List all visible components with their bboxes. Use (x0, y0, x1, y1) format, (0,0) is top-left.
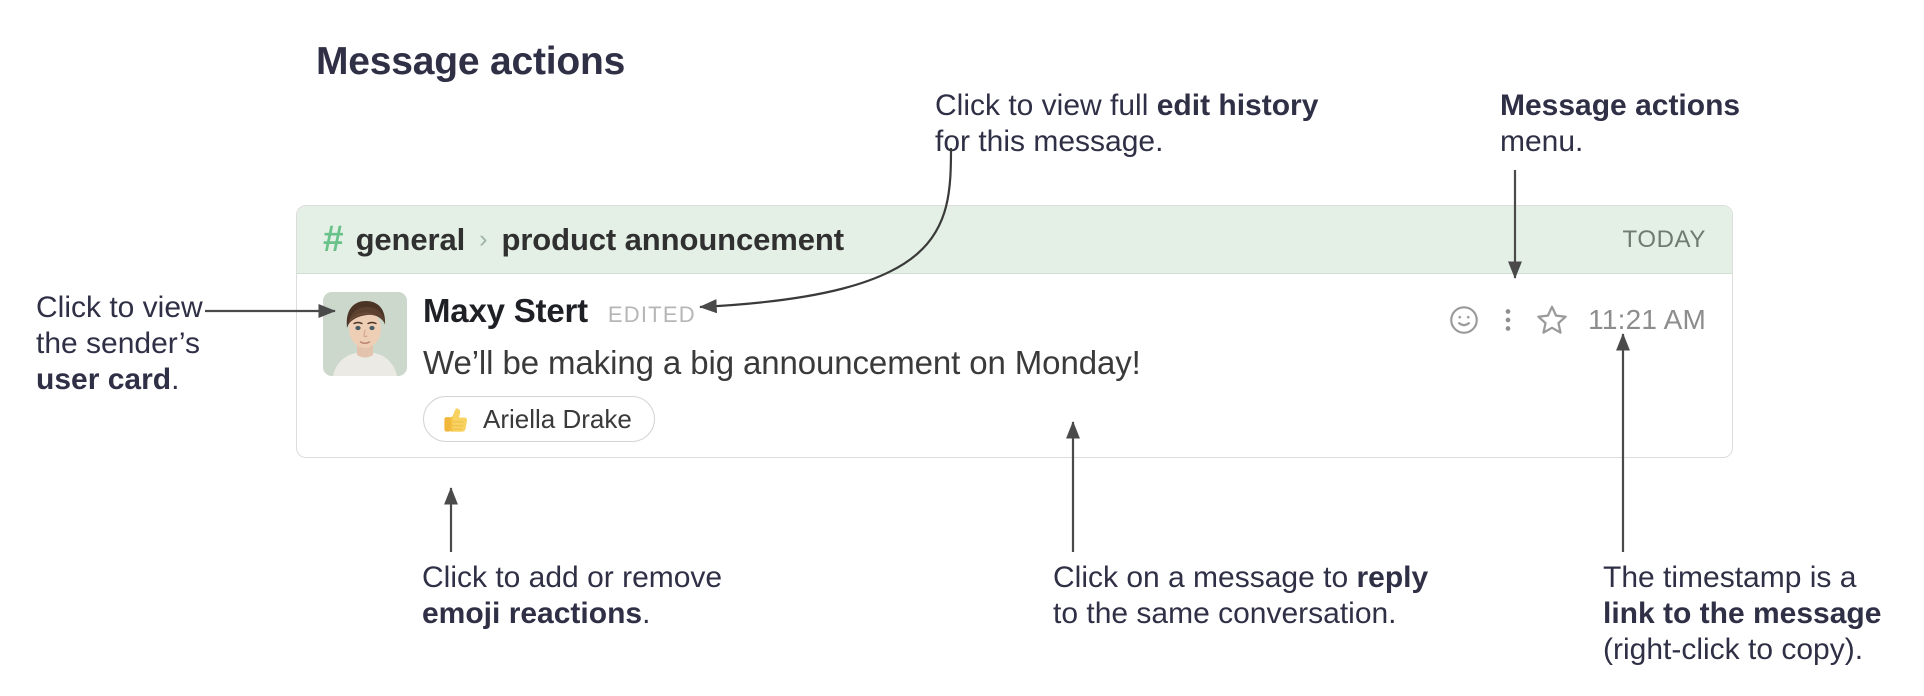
page-title: Message actions (316, 40, 625, 84)
reaction-username: Ariella Drake (483, 404, 632, 435)
annotation-emphasis: reply (1356, 561, 1428, 594)
annotation-emphasis: user card (36, 363, 171, 396)
message-timestamp[interactable]: 11:21 AM (1588, 304, 1706, 336)
message-text[interactable]: We’ll be making a big announcement on Mo… (423, 344, 1706, 382)
annotation-line: to the same conversation. (1053, 596, 1428, 632)
message-card: # general › product announcement TODAY (296, 205, 1733, 458)
annotation-edit-history: Click to view full edit history for this… (935, 88, 1318, 160)
star-icon[interactable] (1530, 298, 1574, 342)
annotation-emphasis: link to the message (1603, 597, 1881, 630)
annotation-emphasis: Message actions (1500, 89, 1740, 122)
annotation-timestamp: The timestamp is a link to the message (… (1603, 560, 1881, 668)
message-actions-group: 11:21 AM (1442, 298, 1706, 342)
annotation-text: . (642, 597, 650, 630)
annotation-line: the sender’s (36, 326, 203, 362)
date-label: TODAY (1623, 226, 1706, 254)
annotation-line: The timestamp is a (1603, 560, 1881, 596)
annotation-text: Click on a message to (1053, 561, 1356, 594)
emoji-reaction-icon[interactable] (1442, 298, 1486, 342)
annotation-text: . (171, 363, 179, 396)
sender-name[interactable]: Maxy Stert (423, 292, 588, 330)
hash-icon: # (323, 220, 344, 257)
reaction-row: Ariella Drake (423, 396, 1706, 442)
avatar[interactable] (323, 292, 407, 376)
annotation-emoji-reactions: Click to add or remove emoji reactions. (422, 560, 722, 632)
stream-name[interactable]: general (356, 222, 466, 258)
annotation-line: Click to add or remove (422, 560, 722, 596)
message-row[interactable]: Maxy Stert EDITED We’ll be making a big … (297, 274, 1732, 442)
annotation-user-card: Click to view the sender’s user card. (36, 290, 203, 398)
edited-badge[interactable]: EDITED (608, 302, 696, 328)
annotation-line: (right-click to copy). (1603, 632, 1881, 668)
annotation-emphasis: emoji reactions (422, 597, 642, 630)
annotation-line: for this message. (935, 124, 1318, 160)
annotation-message-actions: Message actions menu. (1500, 88, 1740, 160)
annotation-line: Click to view (36, 290, 203, 326)
annotation-line: user card. (36, 362, 203, 398)
chevron-right-icon: › (479, 227, 487, 252)
thumbs-up-emoji (440, 404, 471, 435)
card-header: # general › product announcement TODAY (297, 206, 1732, 274)
annotation-text: Click to view full (935, 89, 1157, 122)
annotation-emphasis: edit history (1157, 89, 1319, 122)
annotation-reply: Click on a message to reply to the same … (1053, 560, 1428, 632)
annotation-line: menu. (1500, 124, 1740, 160)
reaction-pill[interactable]: Ariella Drake (423, 396, 655, 442)
topic-name[interactable]: product announcement (501, 222, 843, 258)
message-actions-menu-icon[interactable] (1486, 298, 1530, 342)
